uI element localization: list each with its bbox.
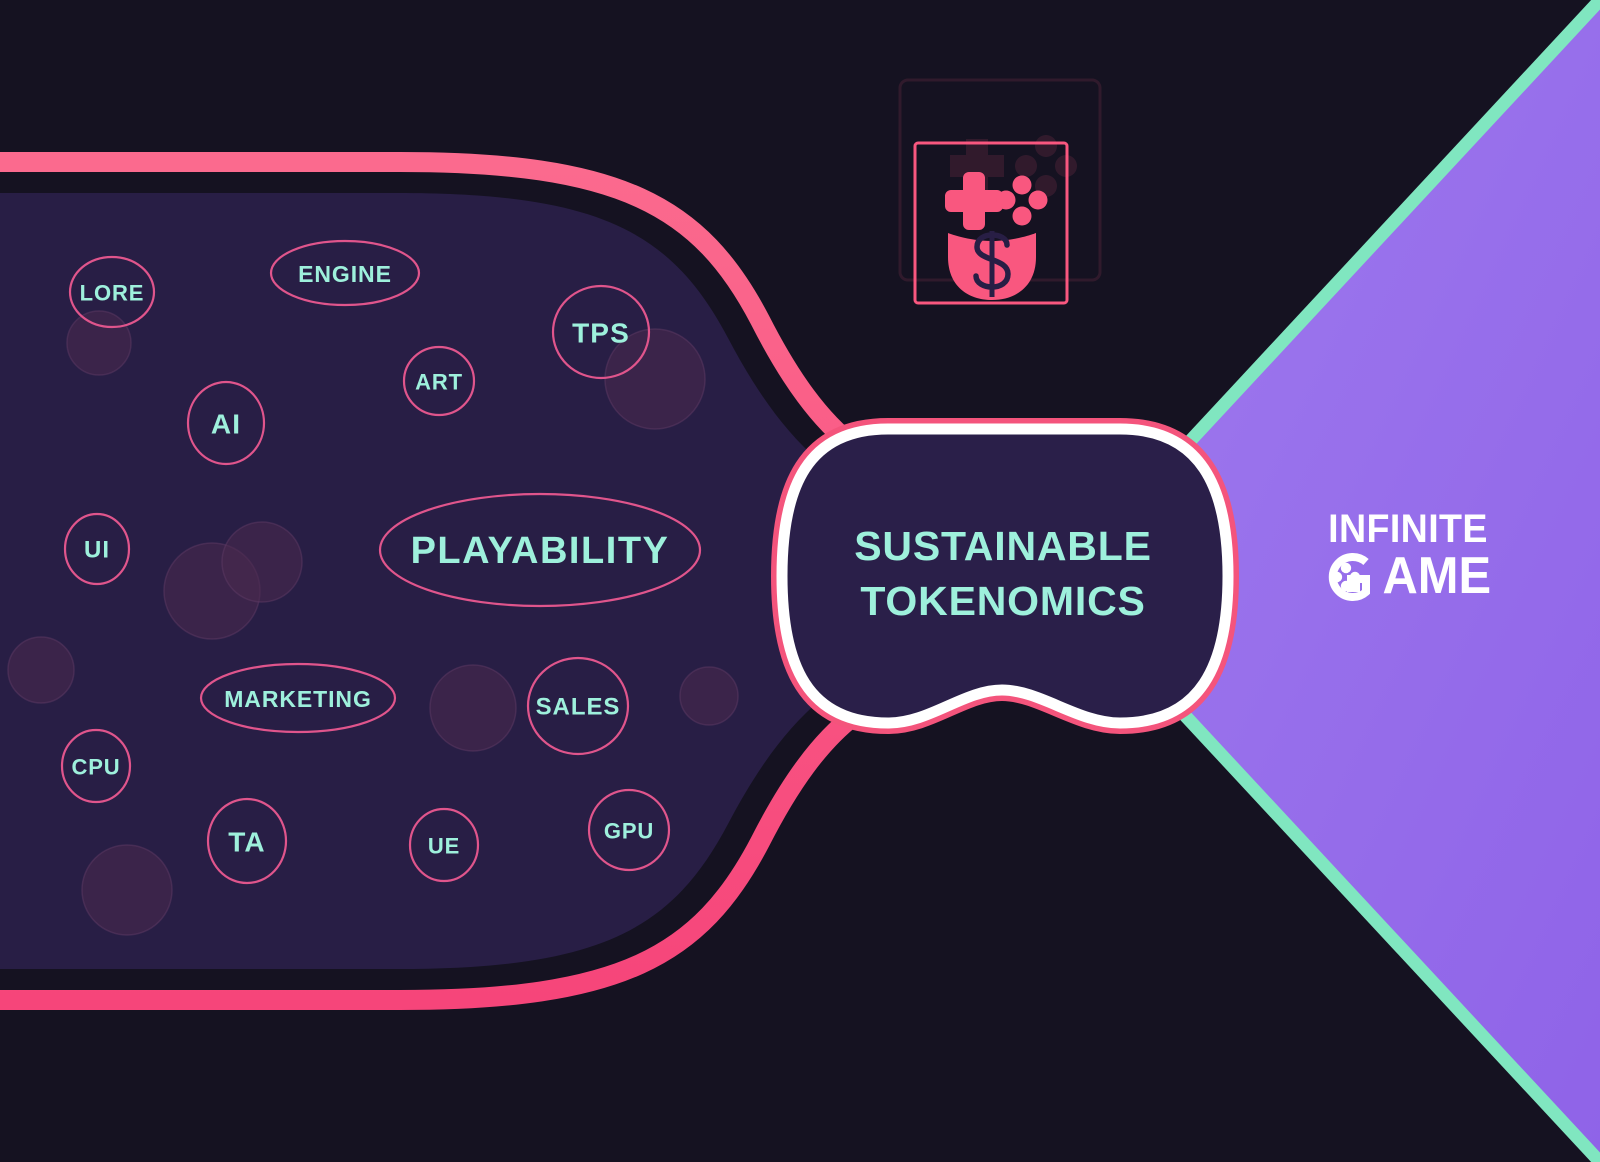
logo-line-infinite: INFINITE <box>1295 510 1521 548</box>
logo-text-ame: AME <box>1382 552 1491 602</box>
logo-line-game: AME <box>1288 550 1528 604</box>
infinite-game-logo[interactable]: INFINITE AME <box>1288 510 1528 604</box>
dpad-icon <box>945 172 1003 230</box>
infographic-canvas: LOREENGINETPSARTAIUIPLAYABILITYMARKETING… <box>0 0 1600 1162</box>
gamepad-g-icon <box>1322 550 1376 604</box>
